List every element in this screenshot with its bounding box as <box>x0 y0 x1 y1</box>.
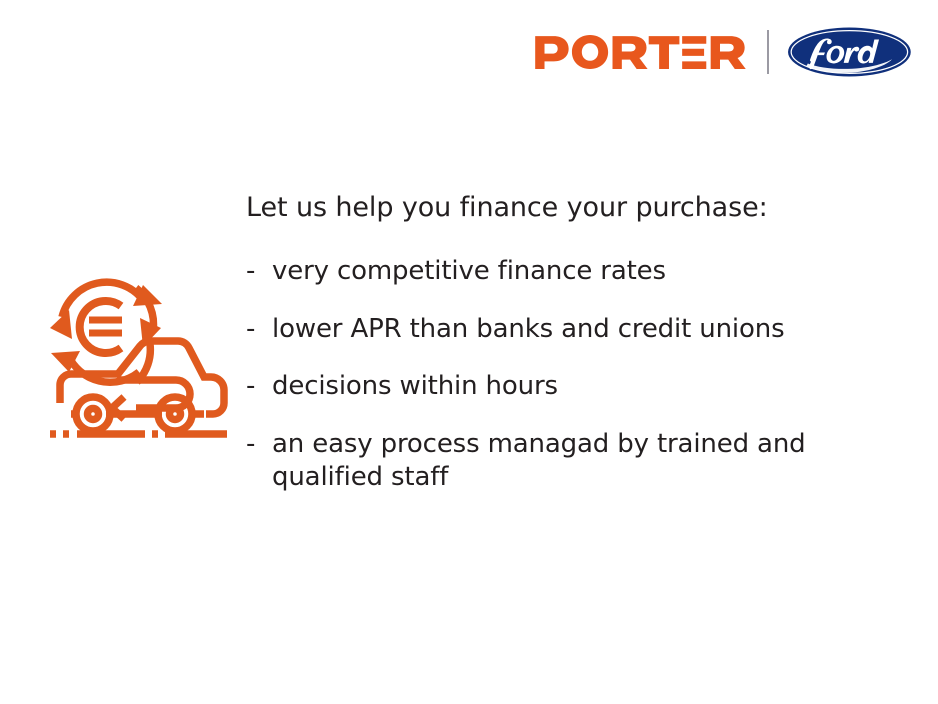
finance-copy-block: Let us help you finance your purchase: -… <box>246 192 886 494</box>
porter-wordmark-logo <box>533 35 747 69</box>
logo-divider <box>767 30 769 74</box>
finance-benefits-list: - very competitive finance rates - lower… <box>246 255 886 494</box>
list-item-label: decisions within hours <box>272 370 558 403</box>
bullet-marker: - <box>246 255 272 288</box>
bullet-marker: - <box>246 428 272 461</box>
brand-logo-lockup <box>533 24 912 80</box>
finance-slide: Let us help you finance your purchase: -… <box>0 0 938 704</box>
page-title: Let us help you finance your purchase: <box>246 192 886 225</box>
list-item: - very competitive finance rates <box>246 255 886 288</box>
list-item: - lower APR than banks and credit unions <box>246 313 886 346</box>
list-item: - an easy process managad by trained and… <box>246 428 886 494</box>
list-item: - decisions within hours <box>246 370 886 403</box>
bullet-marker: - <box>246 313 272 346</box>
ford-oval-logo <box>787 26 912 78</box>
list-item-label: lower APR than banks and credit unions <box>272 313 784 346</box>
list-item-label: very competitive finance rates <box>272 255 666 288</box>
bullet-marker: - <box>246 370 272 403</box>
car-finance-euro-icon <box>44 252 234 450</box>
list-item-label: an easy process managad by trained and q… <box>272 428 872 494</box>
